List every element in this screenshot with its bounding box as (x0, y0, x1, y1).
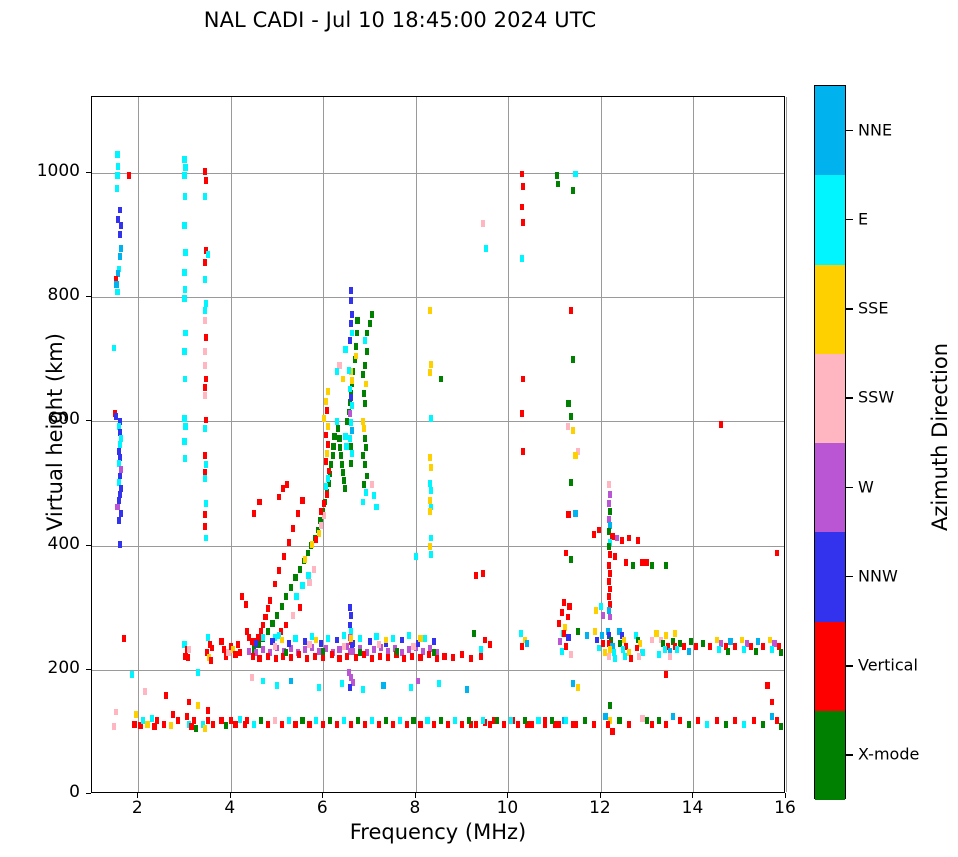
echo-marker (460, 651, 464, 658)
echo-marker (284, 593, 288, 600)
echo-marker (429, 487, 433, 494)
echo-marker (368, 320, 372, 327)
echo-marker (429, 464, 433, 471)
y-tick-label: 400 (24, 534, 80, 554)
echo-marker (407, 632, 411, 639)
echo-marker (319, 508, 323, 515)
echo-marker (305, 655, 309, 662)
echo-marker (427, 651, 431, 658)
echo-marker (525, 640, 529, 647)
echo-marker (361, 686, 365, 693)
echo-marker (398, 717, 402, 724)
echo-marker (229, 717, 233, 724)
echo-marker (204, 417, 208, 424)
echo-marker (268, 597, 272, 604)
echo-marker (291, 612, 295, 619)
echo-marker (325, 491, 329, 498)
echo-marker (364, 381, 368, 388)
echo-marker (701, 640, 705, 647)
echo-marker (363, 721, 367, 728)
echo-marker (726, 648, 730, 655)
echo-marker (715, 637, 719, 644)
echo-marker (274, 655, 278, 662)
echo-marker (349, 419, 353, 426)
echo-marker (364, 489, 368, 496)
echo-marker (592, 721, 596, 728)
echo-marker (176, 717, 180, 724)
echo-marker (280, 721, 284, 728)
echo-marker (337, 646, 341, 653)
echo-marker (335, 721, 339, 728)
echo-marker (374, 504, 378, 511)
echo-marker (155, 717, 159, 724)
echo-marker (275, 612, 279, 619)
echo-marker (233, 651, 237, 658)
echo-marker (298, 566, 302, 573)
y-tick-label: 0 (24, 782, 80, 802)
echo-marker (607, 653, 611, 660)
echo-marker (203, 511, 207, 518)
echo-marker (325, 407, 329, 414)
echo-marker (472, 630, 476, 637)
echo-marker (523, 717, 527, 724)
echo-marker (119, 222, 123, 229)
y-tick (86, 669, 91, 670)
echo-marker (429, 551, 433, 558)
echo-marker (337, 655, 341, 662)
gridline-vertical (786, 97, 787, 792)
echo-marker (349, 297, 353, 304)
echo-marker (348, 410, 352, 417)
echo-marker (608, 551, 612, 558)
echo-marker (453, 717, 457, 724)
echo-marker (361, 371, 365, 378)
echo-marker (342, 717, 346, 724)
echo-marker (324, 458, 328, 465)
colorbar-tick (846, 665, 853, 666)
echo-marker (293, 635, 297, 642)
echo-marker (350, 427, 354, 434)
echo-marker (203, 259, 207, 266)
echo-marker (521, 219, 525, 226)
echo-marker (294, 593, 298, 600)
echo-marker (627, 535, 631, 542)
echo-marker (341, 376, 345, 383)
echo-marker (571, 680, 575, 687)
echo-marker (281, 485, 285, 492)
echo-marker (402, 655, 406, 662)
echo-marker (566, 634, 570, 641)
colorbar-tick (846, 308, 853, 309)
echo-marker (194, 725, 198, 732)
colorbar-label-nne: NNE (858, 120, 892, 139)
echo-marker (460, 721, 464, 728)
echo-marker (182, 156, 186, 163)
echo-marker (671, 713, 675, 720)
echo-marker (291, 525, 295, 532)
echo-marker (361, 418, 365, 425)
echo-marker (203, 193, 207, 200)
echo-marker (446, 721, 450, 728)
echo-marker (384, 717, 388, 724)
echo-marker (317, 684, 321, 691)
echo-marker (363, 337, 367, 344)
echo-marker (134, 711, 138, 718)
echo-marker (337, 435, 341, 442)
echo-marker (391, 721, 395, 728)
echo-marker (266, 653, 270, 660)
echo-marker (303, 556, 307, 563)
echo-marker (335, 368, 339, 375)
echo-marker (115, 185, 119, 192)
echo-marker (481, 717, 485, 724)
plot-area (91, 96, 785, 793)
echo-marker (342, 643, 346, 650)
echo-marker (348, 337, 352, 344)
echo-marker (115, 289, 119, 296)
echo-marker (358, 635, 362, 642)
echo-marker (576, 628, 580, 635)
echo-marker (362, 425, 366, 432)
echo-marker (488, 721, 492, 728)
colorbar-band-x-mode (815, 711, 845, 800)
echo-marker (752, 717, 756, 724)
echo-marker (650, 721, 654, 728)
echo-marker (332, 433, 336, 440)
echo-marker (145, 721, 149, 728)
echo-marker (564, 550, 568, 557)
echo-marker (348, 604, 352, 611)
echo-marker (372, 492, 376, 499)
echo-marker (365, 348, 369, 355)
echo-marker (354, 343, 358, 350)
echo-marker (391, 635, 395, 642)
echo-marker (429, 361, 433, 368)
y-tick (86, 172, 91, 173)
echo-marker (115, 172, 119, 179)
echo-marker (409, 684, 413, 691)
echo-marker (209, 657, 213, 664)
echo-marker (607, 593, 611, 600)
echo-marker (719, 421, 723, 428)
echo-marker (432, 649, 436, 656)
echo-marker (183, 164, 187, 171)
echo-marker (386, 654, 390, 661)
x-tick-label: 2 (107, 798, 167, 818)
echo-marker (310, 633, 314, 640)
echo-marker (640, 715, 644, 722)
echo-marker (358, 649, 362, 656)
echo-marker (520, 204, 524, 211)
echo-marker (363, 461, 367, 468)
echo-marker (576, 684, 580, 691)
echo-marker (418, 635, 422, 642)
echo-marker (182, 295, 186, 302)
data-markers (92, 97, 784, 792)
echo-marker (206, 717, 210, 724)
echo-marker (306, 572, 310, 579)
colorbar-label-x-mode: X-mode (858, 745, 919, 764)
echo-marker (289, 654, 293, 661)
echo-marker (185, 713, 189, 720)
x-tick-label: 16 (755, 798, 815, 818)
echo-marker (370, 655, 374, 662)
echo-marker (349, 635, 353, 642)
echo-marker (169, 722, 173, 729)
echo-marker (374, 633, 378, 640)
echo-marker (377, 641, 381, 648)
echo-marker (347, 367, 351, 374)
echo-marker (252, 721, 256, 728)
echo-marker (203, 452, 207, 459)
echo-marker (204, 300, 208, 307)
echo-marker (416, 678, 420, 685)
echo-marker (330, 651, 334, 658)
echo-marker (326, 423, 330, 430)
echo-marker (345, 653, 349, 660)
echo-marker (326, 388, 330, 395)
echo-marker (381, 682, 385, 689)
echo-marker (603, 713, 607, 720)
echo-marker (395, 648, 399, 655)
echo-marker (597, 645, 601, 652)
echo-marker (270, 620, 274, 627)
echo-marker (439, 376, 443, 383)
echo-marker (601, 612, 605, 619)
echo-marker (708, 643, 712, 650)
echo-marker (717, 646, 721, 653)
echo-marker (608, 586, 612, 593)
echo-marker (321, 654, 325, 661)
echo-marker (322, 500, 326, 507)
echo-marker (442, 653, 446, 660)
echo-marker (189, 723, 193, 730)
echo-marker (343, 433, 347, 440)
echo-marker (344, 443, 348, 450)
echo-marker (183, 455, 187, 462)
echo-marker (418, 721, 422, 728)
echo-marker (350, 402, 354, 409)
echo-marker (307, 579, 311, 586)
echo-marker (284, 649, 288, 656)
colorbar-label: Azimuth Direction (928, 287, 952, 587)
echo-marker (245, 717, 249, 724)
echo-marker (756, 638, 760, 645)
ionogram-figure: NAL CADI - Jul 10 18:45:00 2024 UTC Freq… (0, 0, 958, 857)
echo-marker (282, 553, 286, 560)
echo-marker (770, 713, 774, 720)
echo-marker (150, 715, 154, 722)
echo-marker (240, 593, 244, 600)
echo-marker (742, 721, 746, 728)
echo-marker (484, 245, 488, 252)
echo-marker (338, 444, 342, 451)
echo-marker (617, 717, 621, 724)
echo-marker (257, 655, 261, 662)
echo-marker (303, 646, 307, 653)
echo-marker (509, 717, 513, 724)
echo-marker (400, 637, 404, 644)
echo-marker (266, 628, 270, 635)
echo-marker (349, 443, 353, 450)
echo-marker (607, 543, 611, 550)
echo-marker (336, 425, 340, 432)
echo-marker (423, 635, 427, 642)
echo-marker (631, 562, 635, 569)
echo-marker (203, 362, 207, 369)
echo-marker (335, 418, 339, 425)
echo-marker (432, 638, 436, 645)
echo-marker (317, 648, 321, 655)
y-tick-label: 1000 (24, 161, 80, 181)
echo-marker (273, 643, 277, 650)
echo-marker (364, 444, 368, 451)
echo-marker (384, 637, 388, 644)
echo-marker (287, 640, 291, 647)
echo-marker (203, 425, 207, 432)
echo-marker (740, 637, 744, 644)
echo-marker (474, 721, 478, 728)
echo-marker (362, 651, 366, 658)
echo-marker (297, 651, 301, 658)
echo-marker (325, 450, 329, 457)
echo-marker (277, 567, 281, 574)
echo-marker (593, 628, 597, 635)
echo-marker (261, 646, 265, 653)
echo-marker (182, 222, 186, 229)
echo-marker (601, 640, 605, 647)
echo-marker (370, 717, 374, 724)
echo-marker (696, 717, 700, 724)
echo-marker (607, 562, 611, 569)
echo-marker (608, 491, 612, 498)
echo-marker (451, 654, 455, 661)
echo-marker (273, 581, 277, 588)
colorbar-tick (846, 487, 853, 488)
echo-marker (687, 721, 691, 728)
echo-marker (520, 410, 524, 417)
echo-marker (226, 649, 230, 656)
echo-marker (678, 717, 682, 724)
echo-marker (321, 721, 325, 728)
echo-marker (761, 721, 765, 728)
echo-marker (162, 721, 166, 728)
colorbar-band-ssw (815, 354, 845, 443)
echo-marker (569, 479, 573, 486)
echo-marker (425, 717, 429, 724)
echo-marker (363, 362, 367, 369)
echo-marker (196, 669, 200, 676)
echo-marker (183, 376, 187, 383)
echo-marker (362, 390, 366, 397)
echo-marker (405, 721, 409, 728)
echo-marker (250, 674, 254, 681)
echo-marker (779, 649, 783, 656)
echo-marker (585, 632, 589, 639)
echo-marker (566, 423, 570, 430)
echo-marker (289, 678, 293, 685)
echo-marker (437, 680, 441, 687)
echo-marker (668, 653, 672, 660)
echo-marker (314, 637, 318, 644)
echo-marker (233, 721, 237, 728)
echo-marker (608, 570, 612, 577)
echo-marker (182, 172, 186, 179)
echo-marker (152, 723, 156, 730)
echo-marker (428, 508, 432, 515)
echo-marker (483, 637, 487, 644)
echo-marker (728, 638, 732, 645)
echo-marker (429, 535, 433, 542)
echo-marker (284, 622, 288, 629)
echo-marker (114, 281, 118, 288)
echo-marker (219, 638, 223, 645)
echo-marker (733, 717, 737, 724)
echo-marker (277, 494, 281, 501)
echo-marker (615, 535, 619, 542)
x-tick-label: 8 (385, 798, 445, 818)
echo-marker (204, 461, 208, 468)
echo-marker (564, 717, 568, 724)
echo-marker (261, 678, 265, 685)
echo-marker (562, 630, 566, 637)
colorbar (814, 85, 846, 799)
echo-marker (117, 517, 121, 524)
echo-marker (749, 643, 753, 650)
echo-marker (211, 721, 215, 728)
echo-marker (236, 641, 240, 648)
echo-marker (606, 721, 610, 728)
echo-marker (742, 646, 746, 653)
echo-marker (112, 723, 116, 730)
echo-marker (280, 637, 284, 644)
echo-marker (571, 427, 575, 434)
colorbar-band-nnw (815, 532, 845, 621)
colorbar-label-w: W (858, 477, 874, 496)
echo-marker (469, 655, 473, 662)
echo-marker (326, 441, 330, 448)
echo-marker (414, 553, 418, 560)
colorbar-label-e: E (858, 209, 868, 228)
echo-marker (597, 527, 601, 534)
echo-marker (556, 181, 560, 188)
echo-marker (182, 348, 186, 355)
echo-marker (314, 536, 318, 543)
echo-marker (275, 682, 279, 689)
echo-marker (244, 601, 248, 608)
echo-marker (474, 572, 478, 579)
colorbar-label-nnw: NNW (858, 566, 898, 585)
echo-marker (203, 384, 207, 391)
echo-marker (600, 632, 604, 639)
echo-marker (224, 722, 228, 729)
echo-marker (603, 649, 607, 656)
echo-marker (650, 562, 654, 569)
echo-marker (171, 711, 175, 718)
echo-marker (613, 655, 617, 662)
y-tick (86, 545, 91, 546)
echo-marker (564, 643, 568, 650)
echo-marker (573, 452, 577, 459)
echo-marker (324, 432, 328, 439)
echo-marker (300, 497, 304, 504)
echo-marker (204, 334, 208, 341)
echo-marker (164, 692, 168, 699)
echo-marker (378, 653, 382, 660)
echo-marker (761, 643, 765, 650)
echo-marker (607, 500, 611, 507)
echo-marker (481, 220, 485, 227)
